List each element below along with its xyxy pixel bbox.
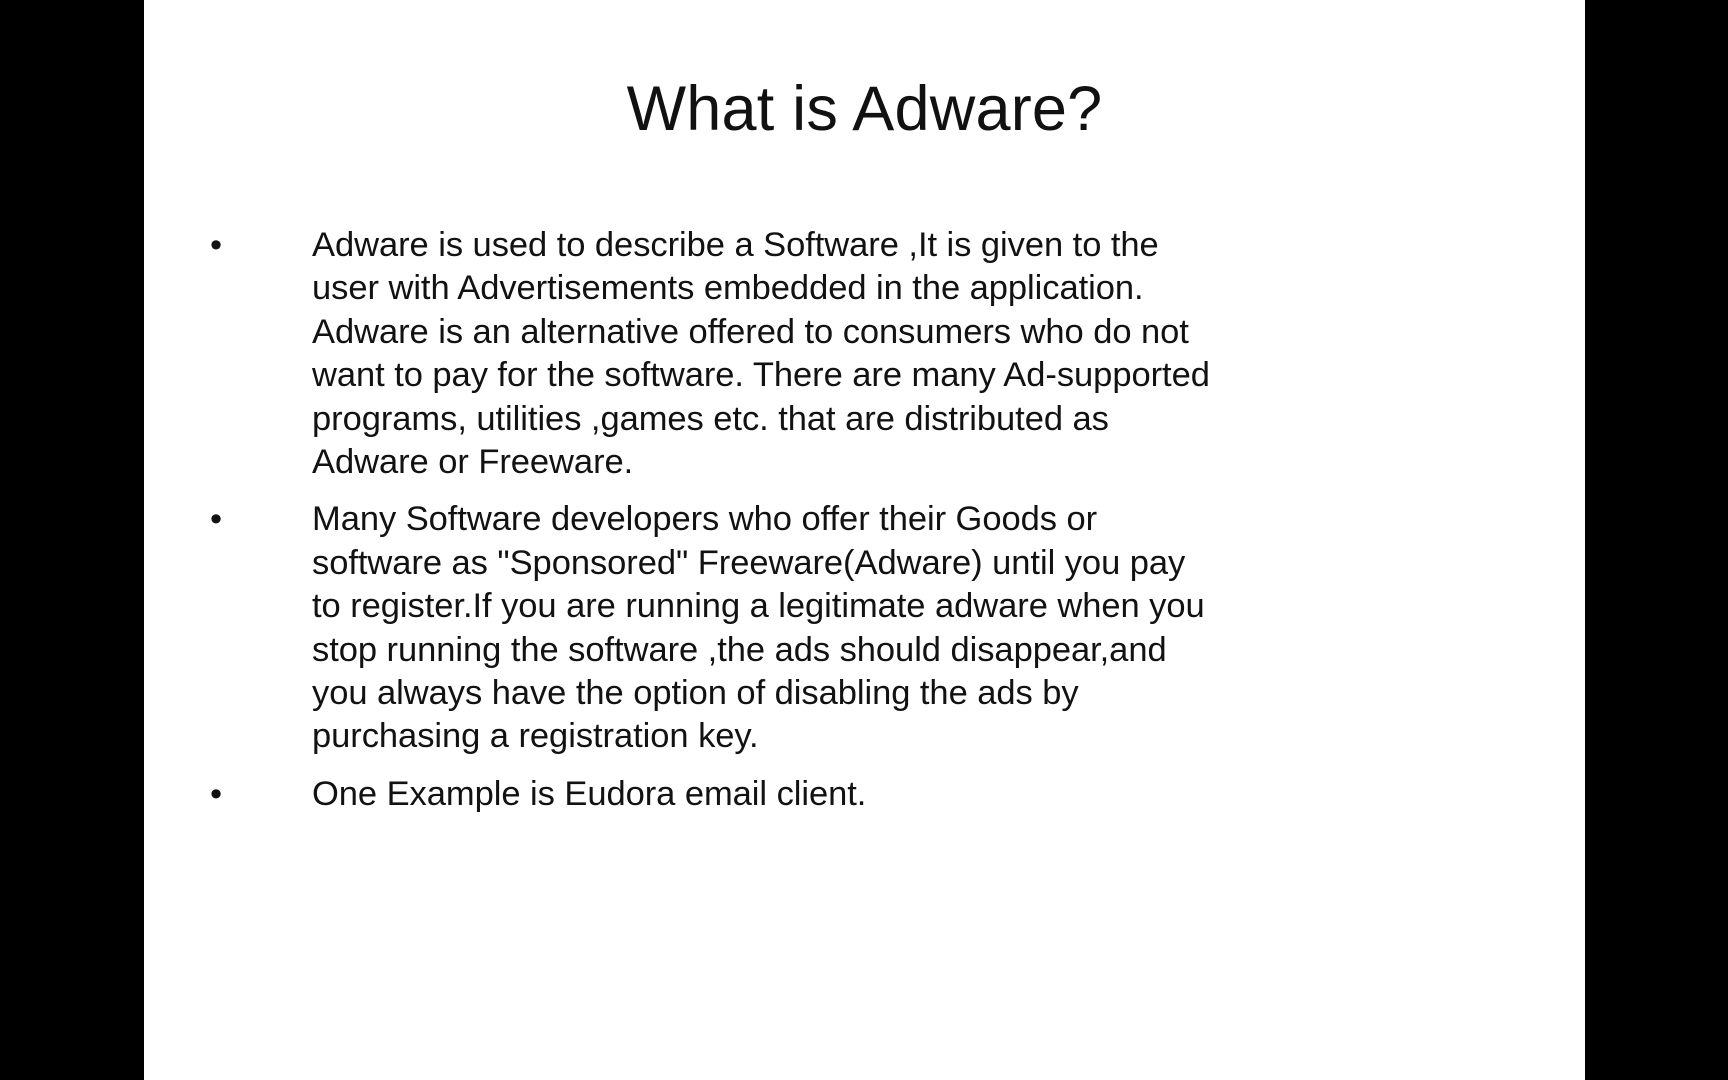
bullet-item-text: One Example is Eudora email client. — [312, 773, 1543, 816]
bullet-item-text: Many Software developers who offer their… — [312, 498, 1543, 758]
bullet-list-item: • Many Software developers who offer the… — [198, 498, 1543, 758]
letterbox-bar-left — [0, 0, 144, 1080]
bullet-point-icon: • — [210, 498, 240, 541]
presentation-slide: What is Adware? • Adware is used to desc… — [144, 0, 1585, 1080]
bullet-point-icon: • — [210, 224, 240, 267]
bullet-list-item: • Adware is used to describe a Software … — [198, 224, 1543, 484]
slide-viewer: What is Adware? • Adware is used to desc… — [0, 0, 1728, 1080]
bullet-point-icon: • — [210, 773, 240, 816]
slide-title: What is Adware? — [144, 74, 1585, 145]
bullet-list-item: • One Example is Eudora email client. — [198, 773, 1543, 816]
slide-body: • Adware is used to describe a Software … — [198, 224, 1543, 816]
bullet-item-text: Adware is used to describe a Software ,I… — [312, 224, 1543, 484]
letterbox-bar-right — [1585, 0, 1728, 1080]
